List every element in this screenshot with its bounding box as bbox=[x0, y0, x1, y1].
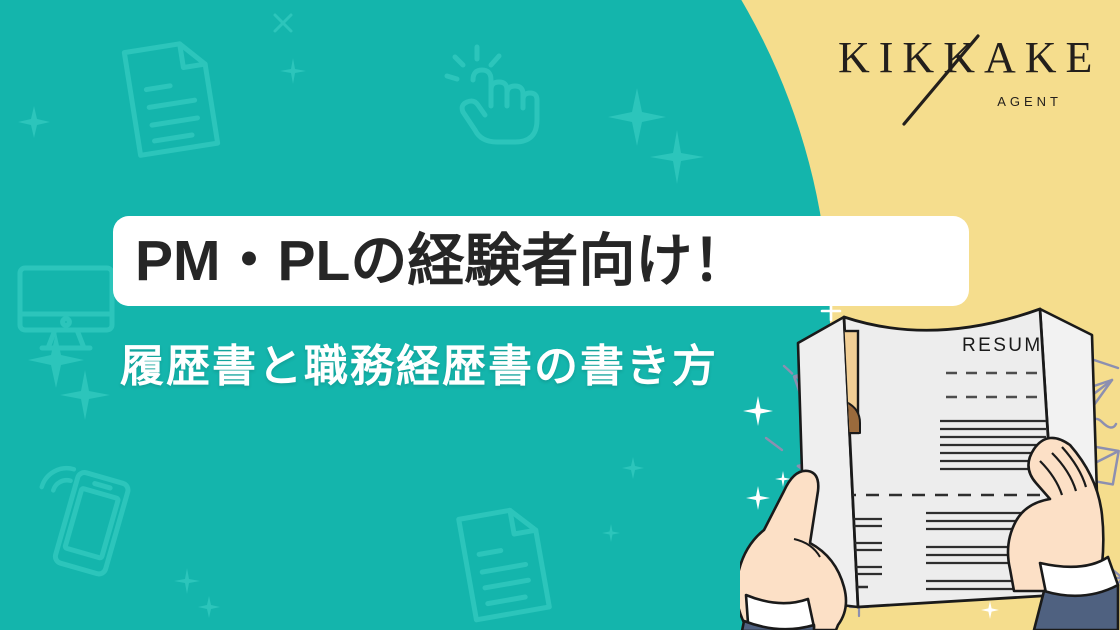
diagonal-slash-icon bbox=[890, 32, 1000, 132]
page-subtitle: 履歴書と職務経歴書の書き方 bbox=[120, 330, 718, 394]
page-title: PM・PLの経験者向け！ bbox=[135, 233, 749, 290]
headline-badge: PM・PLの経験者向け！ bbox=[113, 216, 969, 306]
hero-banner: KIKKAKE AGENT PM・PLの経験者向け！ 履歴書と職務経歴書の書き方 bbox=[0, 0, 1120, 630]
resume-illustration: RESUME bbox=[740, 295, 1120, 630]
teal-left-panel bbox=[0, 0, 300, 630]
logo[interactable]: KIKKAKE AGENT bbox=[838, 36, 1078, 120]
logo-tagline: AGENT bbox=[997, 94, 1062, 109]
